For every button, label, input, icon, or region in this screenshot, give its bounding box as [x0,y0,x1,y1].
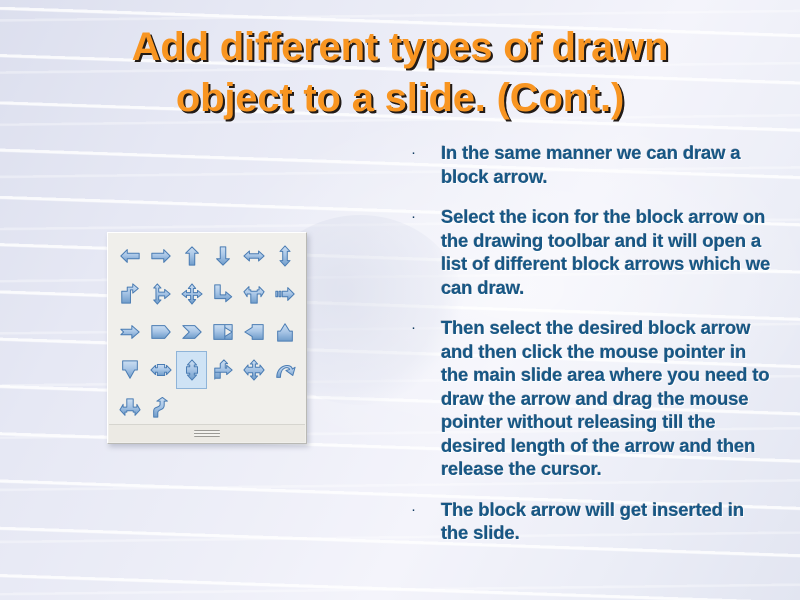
chevron-icon [181,321,203,343]
arrow-tool-striped-right-arrow[interactable] [269,275,300,313]
bullet-item: ·Select the icon for the block arrow on … [405,205,775,299]
arrow-tool-split-down-arrow[interactable] [114,389,145,427]
four-way-arrow-callout-icon [243,359,265,381]
right-arrow-callout-icon [212,321,234,343]
arrow-tool-pentagon[interactable] [145,313,176,351]
left-right-arrow-icon [243,245,265,267]
bullet-text: Then select the desired block arrow and … [441,316,775,481]
block-arrows-toolbar-panel[interactable] [107,232,307,444]
arrow-tool-bent-up-arrow[interactable] [114,275,145,313]
arrow-tool-right-up-arrow-callout[interactable] [207,351,238,389]
striped-right-arrow-icon [274,283,296,305]
drag-grip-icon[interactable] [194,430,220,437]
s-shaped-arrow-icon [150,397,172,419]
bullet-marker-icon: · [405,316,441,340]
bullet-item: ·Then select the desired block arrow and… [405,316,775,481]
arrow-tool-chevron[interactable] [176,313,207,351]
bullet-text: The block arrow will get inserted in the… [441,498,775,545]
arrow-tool-circular-arrow[interactable] [269,351,300,389]
arrow-tool-left-arrow[interactable] [114,237,145,275]
arrow-tool-up-down-arrow-callout[interactable] [176,351,207,389]
toolbar-footer [109,424,305,442]
arrow-tool-s-shaped-arrow[interactable] [145,389,176,427]
up-right-down-arrow-icon [150,283,172,305]
split-down-arrow-icon [119,397,141,419]
down-arrow-icon [212,245,234,267]
arrow-tool-up-arrow-callout[interactable] [269,313,300,351]
left-arrow-callout-icon [243,321,265,343]
up-arrow-callout-icon [274,321,296,343]
bullet-text: In the same manner we can draw a block a… [441,141,775,188]
slide-body-bullet-list: ·In the same manner we can draw a block … [405,141,775,562]
right-up-arrow-callout-icon [212,359,234,381]
bullet-text: Select the icon for the block arrow on t… [441,205,775,299]
arrow-tool-up-arrow[interactable] [176,237,207,275]
arrow-tool-four-way-arrow[interactable] [176,275,207,313]
left-arrow-icon [119,245,141,267]
left-right-arrow-callout-icon [150,359,172,381]
bullet-item: ·The block arrow will get inserted in th… [405,498,775,545]
down-arrow-callout-icon [119,359,141,381]
arrow-tool-right-arrow[interactable] [145,237,176,275]
bullet-marker-icon: · [405,205,441,229]
split-arrow-icon [243,283,265,305]
circular-arrow-icon [274,359,296,381]
arrow-tool-right-arrow-callout[interactable] [207,313,238,351]
arrow-tool-left-right-arrow-callout[interactable] [145,351,176,389]
arrow-tool-split-arrow[interactable] [238,275,269,313]
arrow-tool-down-arrow-callout[interactable] [114,351,145,389]
up-down-arrow-callout-icon [181,359,203,381]
right-arrow-icon [150,245,172,267]
arrow-tool-up-down-arrow[interactable] [269,237,300,275]
bullet-marker-icon: · [405,498,441,522]
bullet-item: ·In the same manner we can draw a block … [405,141,775,188]
up-arrow-icon [181,245,203,267]
block-arrows-grid[interactable] [114,237,302,427]
arrow-tool-four-way-arrow-callout[interactable] [238,351,269,389]
notched-right-arrow-icon [119,321,141,343]
arrow-tool-down-arrow[interactable] [207,237,238,275]
arrow-tool-corner-right-arrow[interactable] [207,275,238,313]
up-down-arrow-icon [274,245,296,267]
slide-title: Add different types of drawn object to a… [40,22,760,124]
presentation-slide: Add different types of drawn object to a… [0,0,800,600]
arrow-tool-left-right-arrow[interactable] [238,237,269,275]
arrow-tool-notched-right-arrow[interactable] [114,313,145,351]
arrow-tool-up-right-down-arrow[interactable] [145,275,176,313]
bullet-marker-icon: · [405,141,441,165]
arrow-tool-left-arrow-callout[interactable] [238,313,269,351]
corner-right-arrow-icon [212,283,234,305]
four-way-arrow-icon [181,283,203,305]
bent-up-arrow-icon [119,283,141,305]
pentagon-icon [150,321,172,343]
